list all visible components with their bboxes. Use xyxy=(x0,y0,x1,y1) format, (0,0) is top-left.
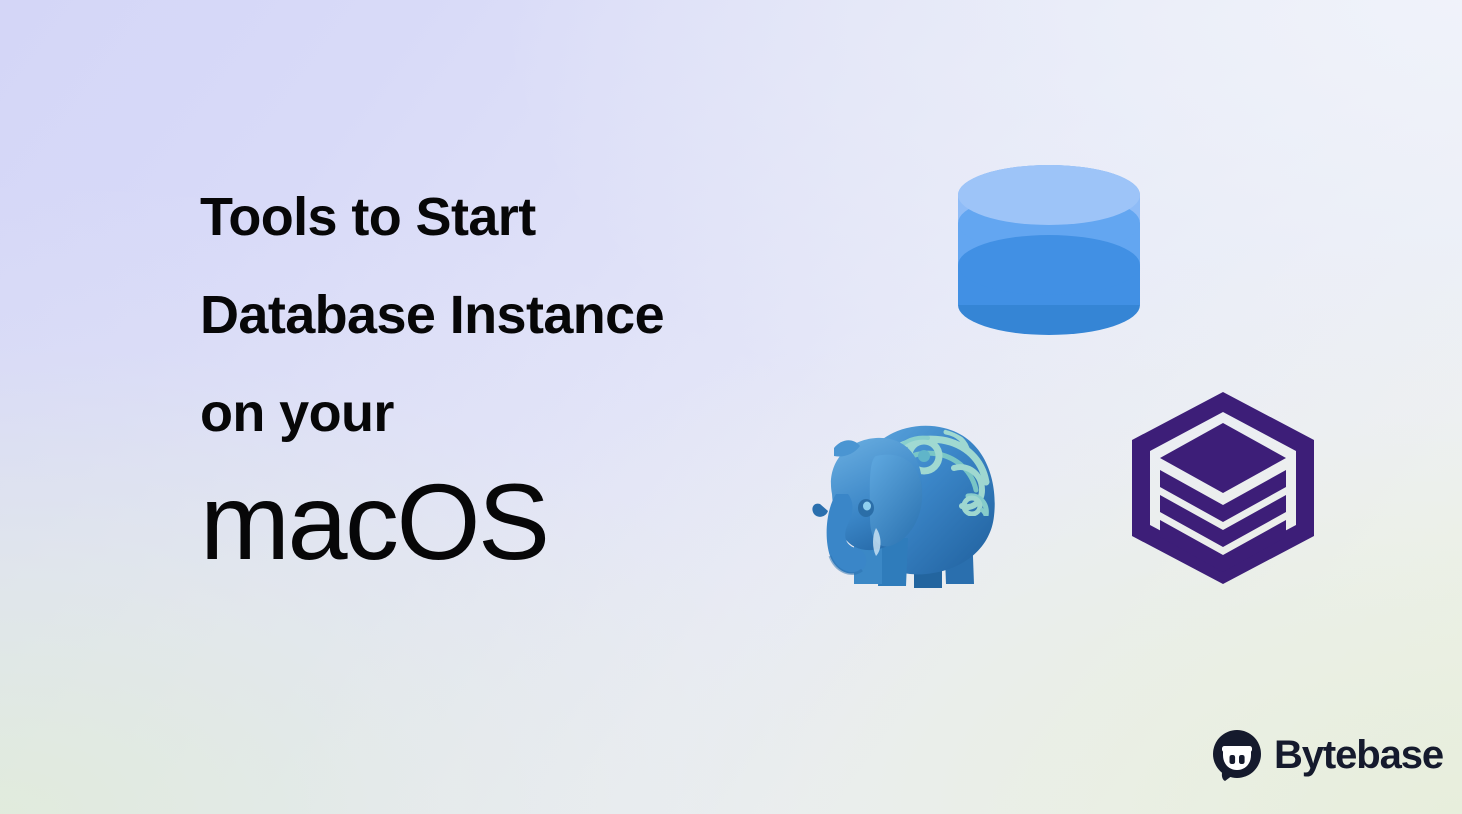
bytebase-logo-mark-icon xyxy=(1211,729,1263,781)
headline-line-2: Database Instance xyxy=(200,266,900,364)
mariadb-hex-cube-icon xyxy=(1130,390,1316,586)
postgresql-elephant-icon xyxy=(796,398,1008,596)
database-cylinder-icon xyxy=(958,165,1140,335)
bytebase-brand-lockup: Bytebase xyxy=(1211,729,1443,781)
headline-line-1: Tools to Start xyxy=(200,168,900,266)
slide-canvas: Tools to Start Database Instance on your… xyxy=(0,0,1462,814)
bytebase-wordmark: Bytebase xyxy=(1274,735,1443,775)
headline-line-4-macos: macOS xyxy=(200,466,900,578)
headline-line-3: on your xyxy=(200,364,900,462)
page-title: Tools to Start Database Instance on your… xyxy=(200,168,900,578)
